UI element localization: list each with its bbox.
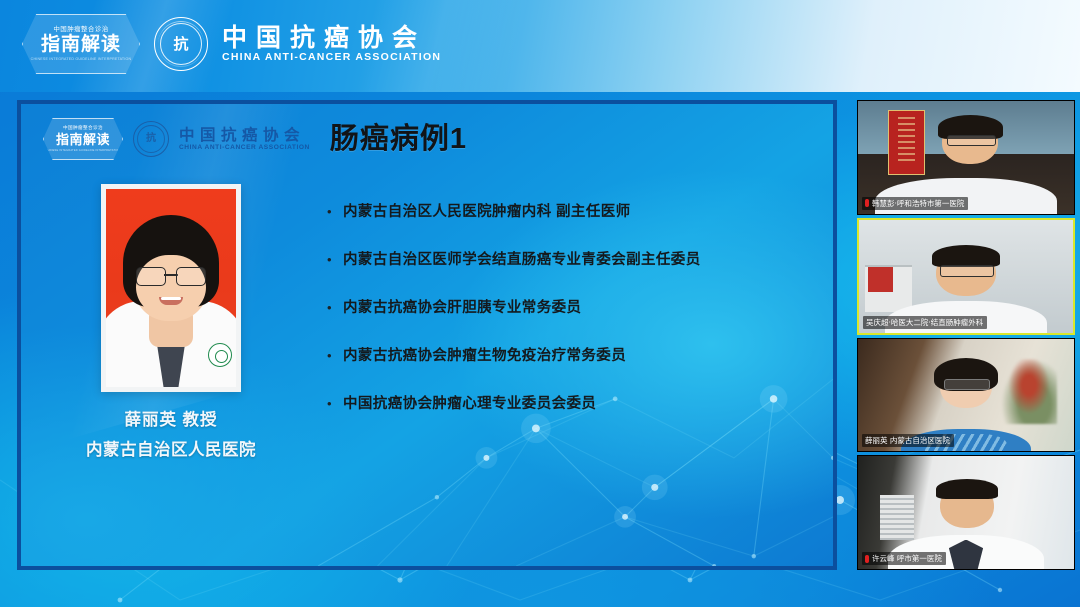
bullet-marker-icon: • — [327, 394, 343, 414]
photo-hospital-emblem — [208, 343, 232, 367]
video-participant-rail: 韩慧彭·呼和浩特市第一医院 吴庆超·哈医大二院·结直肠肿瘤外科 — [857, 100, 1075, 570]
list-item-label: 中国抗癌协会肿瘤心理专业委员会委员 — [343, 394, 596, 414]
association-name-en: CHINA ANTI-CANCER ASSOCIATION — [222, 52, 441, 64]
guideline-interpretation-badge: 中国肿瘤整合诊治 指南解读 CHINESE INTEGRATED GUIDELI… — [22, 14, 140, 74]
caca-seal-icon: 抗 — [154, 17, 208, 71]
slide-badge-top-text: 中国肿瘤整合诊治 — [63, 126, 103, 131]
badge-main-text: 指南解读 — [41, 35, 121, 55]
top-banner: 中国肿瘤整合诊治 指南解读 CHINESE INTEGRATED GUIDELI… — [0, 0, 1080, 92]
scene-plant — [1001, 359, 1057, 424]
microphone-icon — [865, 199, 869, 207]
slide-badge-main-text: 指南解读 — [56, 133, 110, 147]
bullet-marker-icon: • — [327, 346, 343, 366]
scene-window-blinds — [880, 495, 915, 540]
participant-name-label: 韩慧彭·呼和浩特市第一医院 — [862, 197, 968, 210]
participant-glasses — [940, 265, 993, 277]
association-wordmark: 中国抗癌协会 CHINA ANTI-CANCER ASSOCIATION — [222, 24, 441, 64]
video-tile-participant-4[interactable]: 许云峰 呼市第一医院 — [857, 455, 1075, 570]
speaker-profile: 薛丽英 教授 内蒙古自治区人民医院 — [21, 184, 321, 460]
participant-name-text: 吴庆超·哈医大二院·结直肠肿瘤外科 — [866, 317, 983, 328]
participant-glasses — [947, 135, 997, 146]
slide-association-wordmark: 中国抗癌协会 CHINA ANTI-CANCER ASSOCIATION — [179, 127, 310, 152]
participant-name-label: 吴庆超·哈医大二院·结直肠肿瘤外科 — [863, 316, 987, 329]
list-item: • 内蒙古自治区人民医院肿瘤内科 副主任医师 — [327, 202, 809, 222]
association-name-cn: 中国抗癌协会 — [222, 24, 441, 52]
participant-name-text: 许云峰 呼市第一医院 — [872, 553, 942, 564]
scene-red-object — [868, 267, 894, 292]
slide-guideline-badge: 中国肿瘤整合诊治 指南解读 CHINESE INTEGRATED GUIDELI… — [43, 118, 123, 160]
participant-name-text: 韩慧彭·呼和浩特市第一医院 — [872, 198, 964, 209]
list-item: • 内蒙古抗癌协会肝胆胰专业常务委员 — [327, 298, 809, 318]
list-item-label: 内蒙古抗癌协会肝胆胰专业常务委员 — [343, 298, 581, 318]
list-item: • 内蒙古自治区医师学会结直肠癌专业青委会副主任委员 — [327, 250, 809, 270]
bullet-marker-icon: • — [327, 250, 343, 270]
list-item-label: 内蒙古自治区医师学会结直肠癌专业青委会副主任委员 — [343, 250, 701, 270]
speaker-photo-frame — [101, 184, 241, 392]
seal-arc-decoration — [158, 21, 204, 67]
screen: 中国肿瘤整合诊治 指南解读 CHINESE INTEGRATED GUIDELI… — [0, 0, 1080, 607]
list-item: • 中国抗癌协会肿瘤心理专业委员会委员 — [327, 394, 809, 414]
slide-seal-arc-decoration — [137, 125, 165, 153]
photo-hair — [123, 215, 219, 307]
video-tile-participant-2[interactable]: 吴庆超·哈医大二院·结直肠肿瘤外科 — [857, 218, 1075, 335]
video-tile-participant-3[interactable]: 薛丽英 内蒙古自治区医院 — [857, 338, 1075, 453]
slide-badge-sub-text: CHINESE INTEGRATED GUIDELINE INTERPRETAT… — [45, 149, 120, 152]
scene-wall-banner — [888, 110, 925, 175]
photo-glasses-left-lens — [136, 267, 166, 286]
badge-sub-text: CHINESE INTEGRATED GUIDELINE INTERPRETAT… — [31, 57, 132, 61]
slide-association-name-en: CHINA ANTI-CANCER ASSOCIATION — [179, 144, 310, 151]
photo-glasses — [136, 267, 206, 284]
bullet-marker-icon: • — [327, 202, 343, 222]
participant-hair — [932, 245, 1000, 268]
participant-name-label: 许云峰 呼市第一医院 — [862, 552, 946, 565]
video-tile-participant-1[interactable]: 韩慧彭·呼和浩特市第一医院 — [857, 100, 1075, 215]
photo-glasses-right-lens — [176, 267, 206, 286]
credentials-list: • 内蒙古自治区人民医院肿瘤内科 副主任医师 • 内蒙古自治区医师学会结直肠癌专… — [321, 184, 833, 460]
list-item-label: 内蒙古抗癌协会肿瘤生物免疫治疗常务委员 — [343, 346, 626, 366]
banner-logo-group: 中国肿瘤整合诊治 指南解读 CHINESE INTEGRATED GUIDELI… — [22, 14, 441, 74]
speaker-photo — [106, 189, 236, 387]
list-item: • 内蒙古抗癌协会肿瘤生物免疫治疗常务委员 — [327, 346, 809, 366]
speaker-name: 薛丽英 教授 — [124, 406, 217, 430]
slide-association-name-cn: 中国抗癌协会 — [179, 127, 310, 144]
participant-name-label: 薛丽英 内蒙古自治区医院 — [862, 434, 954, 447]
participant-name-text: 薛丽英 内蒙古自治区医院 — [865, 435, 950, 446]
bullet-marker-icon: • — [327, 298, 343, 318]
microphone-icon — [865, 555, 869, 563]
speaker-organization: 内蒙古自治区人民医院 — [86, 436, 256, 460]
slide-body: 薛丽英 教授 内蒙古自治区人民医院 • 内蒙古自治区人民医院肿瘤内科 副主任医师… — [21, 184, 833, 460]
slide-caca-seal-icon: 抗 — [133, 121, 169, 157]
participant-glasses — [944, 379, 989, 390]
participant-hair — [936, 479, 999, 499]
slide-title: 肠癌病例1 — [330, 125, 467, 154]
list-item-label: 内蒙古自治区人民医院肿瘤内科 副主任医师 — [343, 202, 631, 222]
badge-top-text: 中国肿瘤整合诊治 — [53, 27, 108, 34]
presentation-slide[interactable]: 中国肿瘤整合诊治 指南解读 CHINESE INTEGRATED GUIDELI… — [17, 100, 837, 570]
slide-header: 中国肿瘤整合诊治 指南解读 CHINESE INTEGRATED GUIDELI… — [43, 118, 467, 160]
